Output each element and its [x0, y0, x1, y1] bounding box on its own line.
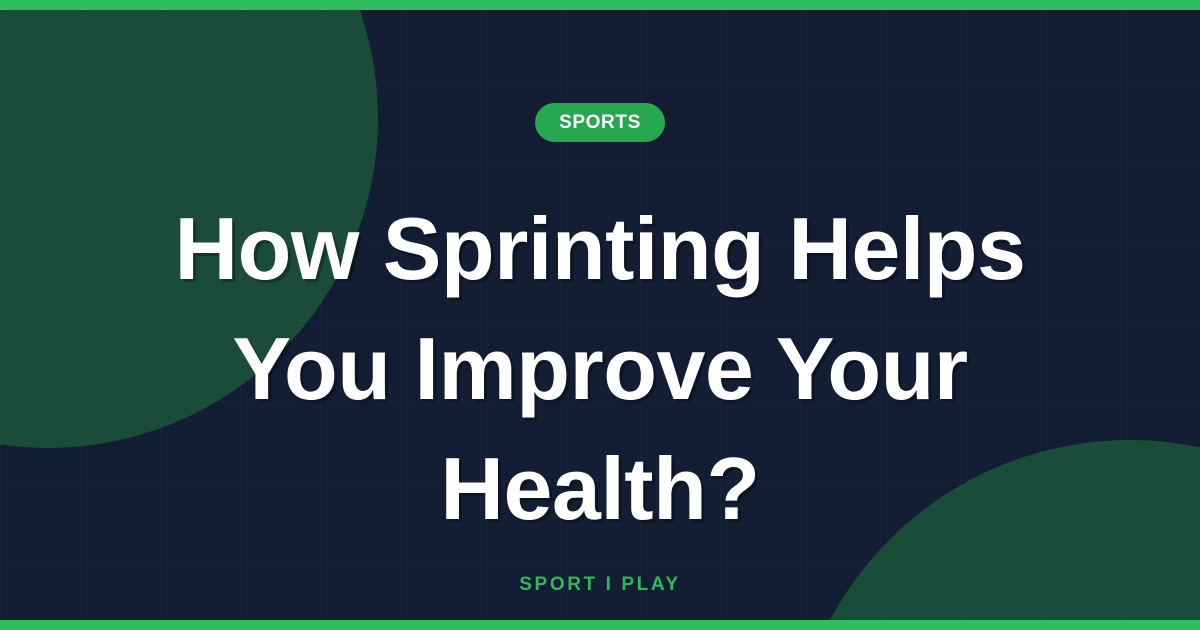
page-title: How Sprinting Helps You Improve Your Hea… — [100, 189, 1100, 549]
top-accent-bar — [0, 0, 1200, 10]
title-line-3: Health? — [100, 429, 1100, 549]
title-line-2: You Improve Your — [100, 309, 1100, 429]
card-content: SPORTS How Sprinting Helps You Improve Y… — [0, 0, 1200, 630]
social-share-card: SPORTS How Sprinting Helps You Improve Y… — [0, 0, 1200, 630]
title-line-1: How Sprinting Helps — [100, 189, 1100, 309]
site-name-footer: SPORT I PLAY — [519, 575, 680, 594]
bottom-accent-bar — [0, 620, 1200, 630]
title-heading: How Sprinting Helps You Improve Your Hea… — [100, 189, 1100, 549]
category-badge[interactable]: SPORTS — [535, 103, 665, 142]
